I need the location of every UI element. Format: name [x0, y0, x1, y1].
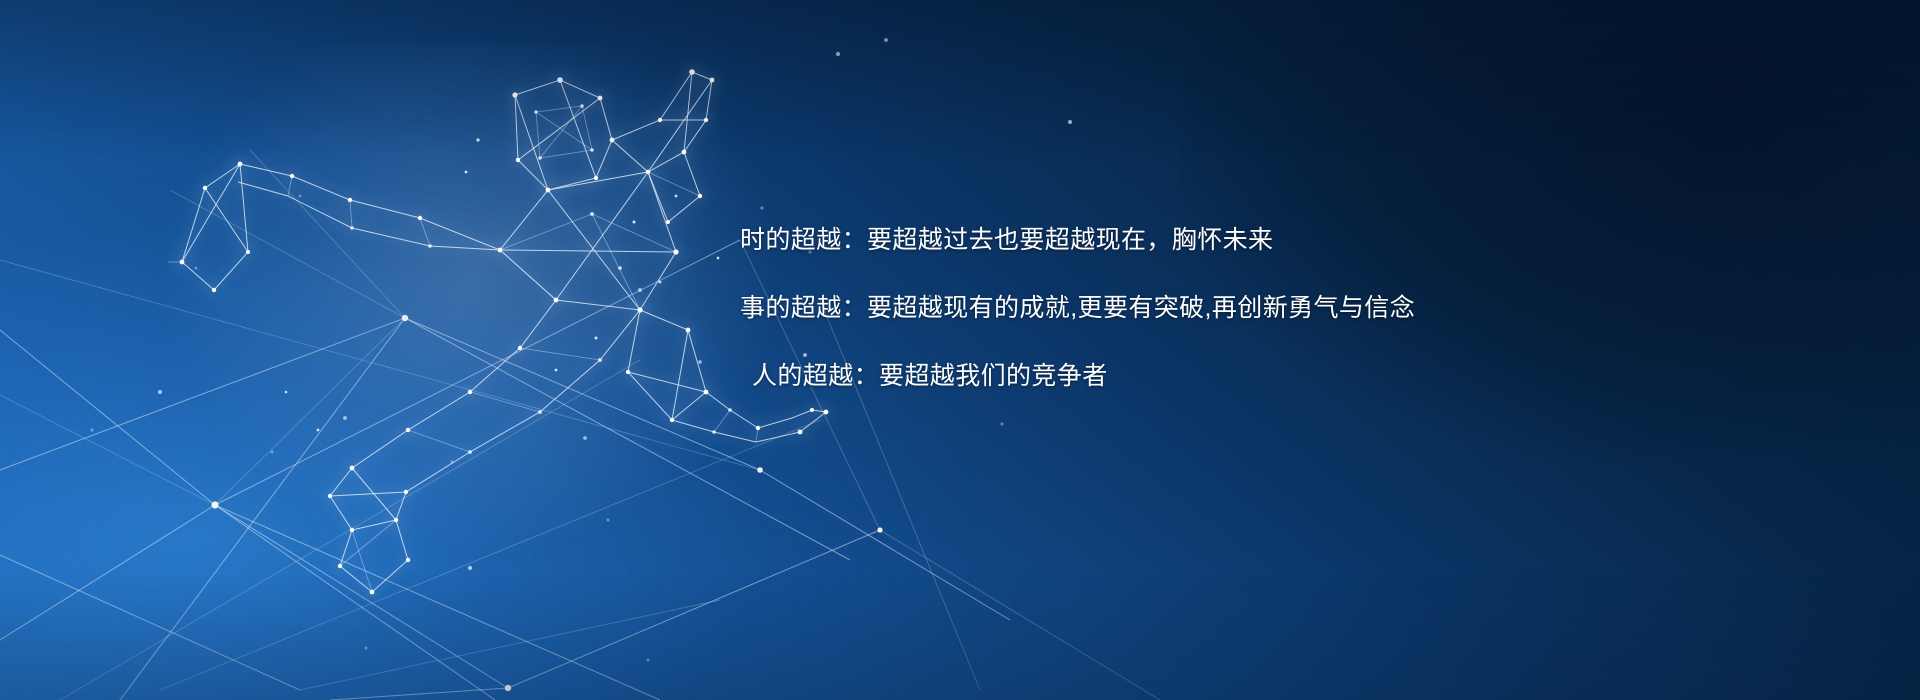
slogan-line-time: 时的超越：要超越过去也要超越现在，胸怀未来	[740, 228, 1840, 253]
slogan-text-block: 时的超越：要超越过去也要超越现在，胸怀未来 事的超越：要超越现有的成就,更要有突…	[740, 228, 1840, 389]
slogan-line-achievement: 事的超越：要超越现有的成就,更要有突破,再创新勇气与信念	[740, 296, 1840, 321]
slogan-line-competitor: 人的超越：要超越我们的竞争者	[740, 364, 1840, 389]
hero-banner: 时的超越：要超越过去也要超越现在，胸怀未来 事的超越：要超越现有的成就,更要有突…	[0, 0, 1920, 700]
